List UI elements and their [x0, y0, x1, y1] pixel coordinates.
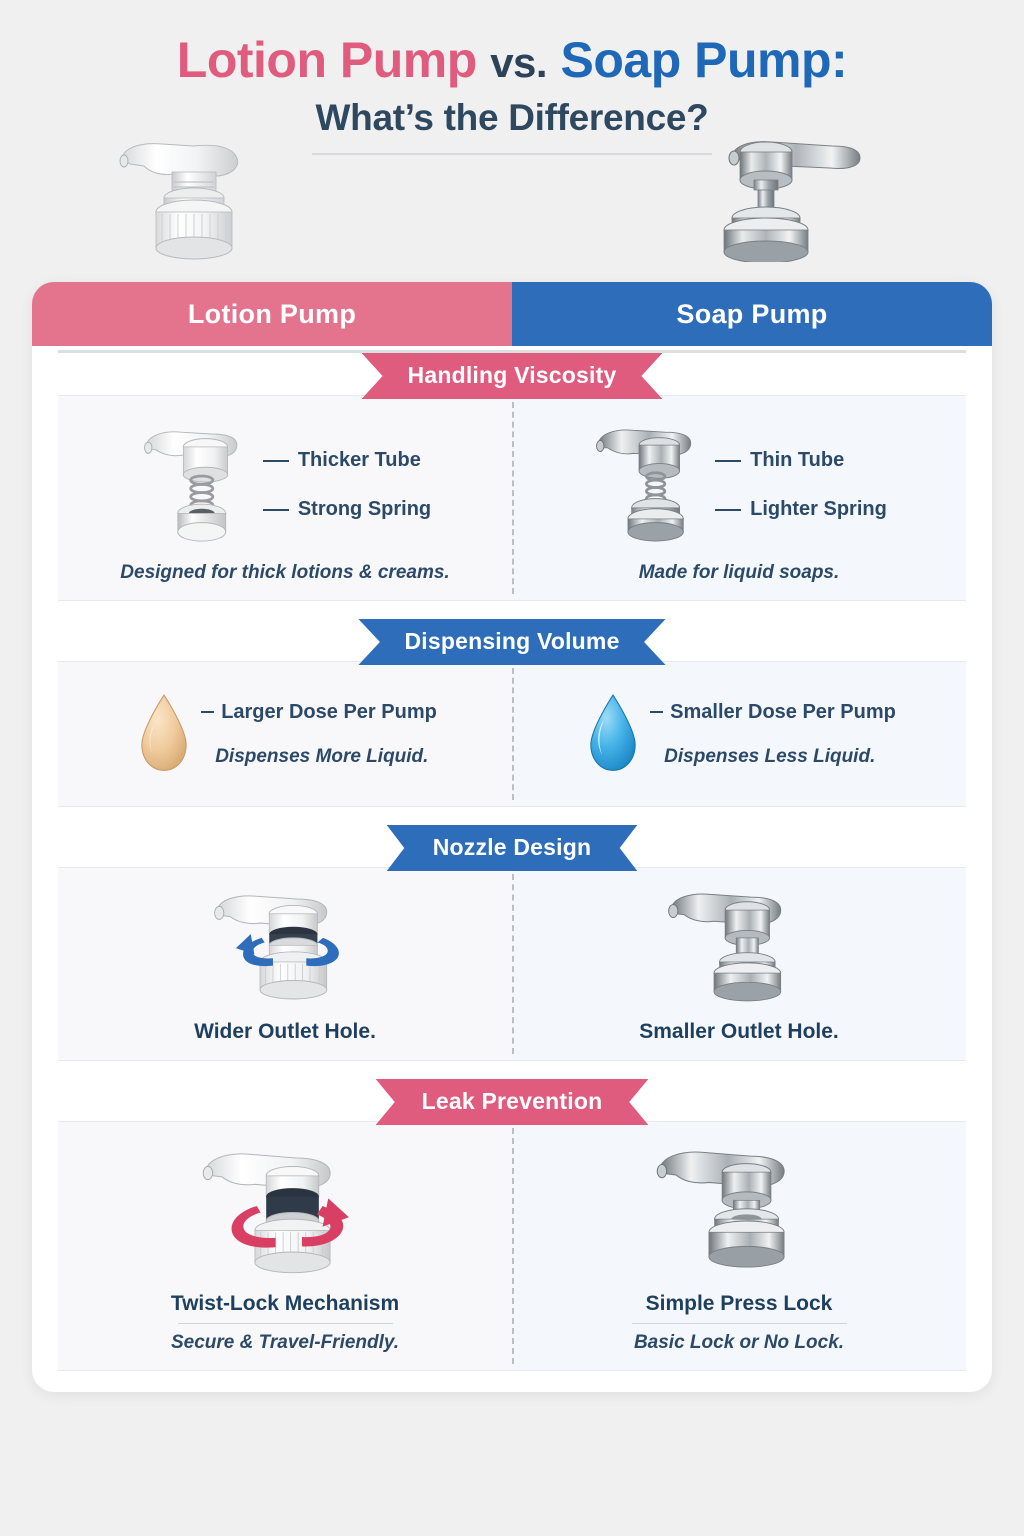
art-row — [522, 884, 956, 1014]
callout-label: Strong Spring — [298, 498, 431, 521]
cream-droplet-icon — [133, 689, 195, 779]
leader-line-icon — [715, 460, 741, 462]
cell-lotion-leak: Twist-Lock Mechanism Secure & Travel-Fri… — [58, 1122, 512, 1370]
cell-lotion-nozzle: Wider Outlet Hole. — [58, 868, 512, 1060]
comparison-card: Lotion Pump Soap Pump Handling Viscosity — [32, 282, 992, 1392]
section-nozzle-design: Nozzle Design — [32, 825, 992, 1061]
callout-label: Thicker Tube — [298, 449, 421, 472]
cell-caption: Designed for thick lotions & creams. — [68, 562, 502, 584]
droplet-title-label: Larger Dose Per Pump — [221, 701, 437, 724]
section-leak-prevention: Leak Prevention — [32, 1079, 992, 1371]
droplet-title: Smaller Dose Per Pump — [650, 701, 896, 724]
column-header-lotion: Lotion Pump — [32, 282, 512, 346]
droplet-caption: Dispenses Less Liquid. — [650, 746, 896, 768]
cell-soap-leak: Simple Press Lock Basic Lock or No Lock. — [512, 1122, 966, 1370]
section-row: Twist-Lock Mechanism Secure & Travel-Fri… — [58, 1121, 966, 1371]
page-title: Lotion Pump vs. Soap Pump: — [0, 34, 1024, 87]
blue-droplet-icon — [582, 689, 644, 779]
white-pump-spring-icon — [139, 416, 259, 548]
column-header-bar: Lotion Pump Soap Pump — [32, 282, 992, 346]
leak-label: Twist-Lock Mechanism — [68, 1292, 502, 1323]
callout-label: Thin Tube — [750, 449, 844, 472]
section-banner-wrap: Dispensing Volume — [32, 619, 992, 665]
droplet-caption: Dispenses More Liquid. — [201, 746, 437, 768]
label-divider — [632, 1323, 847, 1324]
leader-line-icon — [263, 509, 289, 511]
label-block: Twist-Lock Mechanism Secure & Travel-Fri… — [68, 1292, 502, 1354]
droplet-row: Smaller Dose Per Pump Dispenses Less Liq… — [522, 678, 956, 790]
droplet-title: Larger Dose Per Pump — [201, 701, 437, 724]
callout-list: Thicker Tube Strong Spring — [263, 443, 431, 521]
art-row: Thicker Tube Strong Spring — [68, 412, 502, 552]
hero-soap-pump-icon — [710, 122, 870, 262]
leak-caption: Secure & Travel-Friendly. — [68, 1332, 502, 1354]
cell-caption: Smaller Outlet Hole. — [522, 1020, 956, 1044]
title-vs: vs. — [490, 39, 547, 86]
section-banner-wrap: Nozzle Design — [32, 825, 992, 871]
label-block: Simple Press Lock Basic Lock or No Lock. — [522, 1292, 956, 1354]
label-divider — [178, 1323, 393, 1324]
callout-item: Thin Tube — [715, 449, 887, 472]
title-lotion-pump: Lotion Pump — [177, 32, 477, 88]
section-row: Wider Outlet Hole. — [58, 867, 966, 1061]
subtitle-divider — [312, 153, 712, 155]
section-dispensing-volume: Dispensing Volume — [32, 619, 992, 807]
section-row: Larger Dose Per Pump Dispenses More Liqu… — [58, 661, 966, 807]
leader-line-icon — [201, 711, 214, 713]
droplet-text: Larger Dose Per Pump Dispenses More Liqu… — [195, 701, 437, 768]
callout-item: Lighter Spring — [715, 498, 887, 521]
droplet-text: Smaller Dose Per Pump Dispenses Less Liq… — [644, 701, 896, 768]
art-row — [522, 1138, 956, 1288]
silver-pump-narrow-nozzle-icon — [651, 884, 827, 1014]
section-banner-nozzle-design: Nozzle Design — [387, 825, 638, 871]
leader-line-icon — [650, 711, 663, 713]
droplet-row: Larger Dose Per Pump Dispenses More Liqu… — [68, 678, 502, 790]
white-pump-twist-lock-arrow-icon — [191, 1140, 379, 1286]
cell-lotion-viscosity: Thicker Tube Strong Spring Designed for … — [58, 396, 512, 600]
leader-line-icon — [263, 460, 289, 462]
leak-label: Simple Press Lock — [522, 1292, 956, 1323]
section-banner-leak-prevention: Leak Prevention — [376, 1079, 649, 1125]
section-banner-wrap: Leak Prevention — [32, 1079, 992, 1125]
column-dashed-divider — [512, 1128, 514, 1364]
hero-lotion-pump-icon — [110, 122, 270, 262]
art-row — [68, 884, 502, 1014]
infographic-header: Lotion Pump vs. Soap Pump: What’s the Di… — [0, 0, 1024, 282]
column-header-soap: Soap Pump — [512, 282, 992, 346]
section-handling-viscosity: Handling Viscosity — [32, 353, 992, 601]
art-row — [68, 1138, 502, 1288]
title-soap-pump: Soap Pump: — [561, 32, 848, 88]
callout-label: Lighter Spring — [750, 498, 887, 521]
cell-soap-viscosity: Thin Tube Lighter Spring Made for liquid… — [512, 396, 966, 600]
column-dashed-divider — [512, 668, 514, 800]
column-dashed-divider — [512, 402, 514, 594]
section-banner-wrap: Handling Viscosity — [32, 353, 992, 399]
droplet-title-label: Smaller Dose Per Pump — [670, 701, 896, 724]
leak-caption: Basic Lock or No Lock. — [522, 1332, 956, 1354]
section-banner-dispensing-volume: Dispensing Volume — [358, 619, 665, 665]
cell-caption: Made for liquid soaps. — [522, 562, 956, 584]
section-banner-handling-viscosity: Handling Viscosity — [362, 353, 663, 399]
white-pump-rotation-arrow-icon — [197, 884, 373, 1014]
callout-item: Thicker Tube — [263, 449, 431, 472]
callout-list: Thin Tube Lighter Spring — [715, 443, 887, 521]
callout-item: Strong Spring — [263, 498, 431, 521]
cell-caption: Wider Outlet Hole. — [68, 1020, 502, 1044]
cell-lotion-volume: Larger Dose Per Pump Dispenses More Liqu… — [58, 662, 512, 806]
section-row: Thicker Tube Strong Spring Designed for … — [58, 395, 966, 601]
cell-soap-nozzle: Smaller Outlet Hole. — [512, 868, 966, 1060]
leader-line-icon — [715, 509, 741, 511]
silver-pump-spring-icon — [591, 416, 711, 548]
column-dashed-divider — [512, 874, 514, 1054]
art-row: Thin Tube Lighter Spring — [522, 412, 956, 552]
silver-pump-press-lock-icon — [645, 1140, 833, 1286]
cell-soap-volume: Smaller Dose Per Pump Dispenses Less Liq… — [512, 662, 966, 806]
